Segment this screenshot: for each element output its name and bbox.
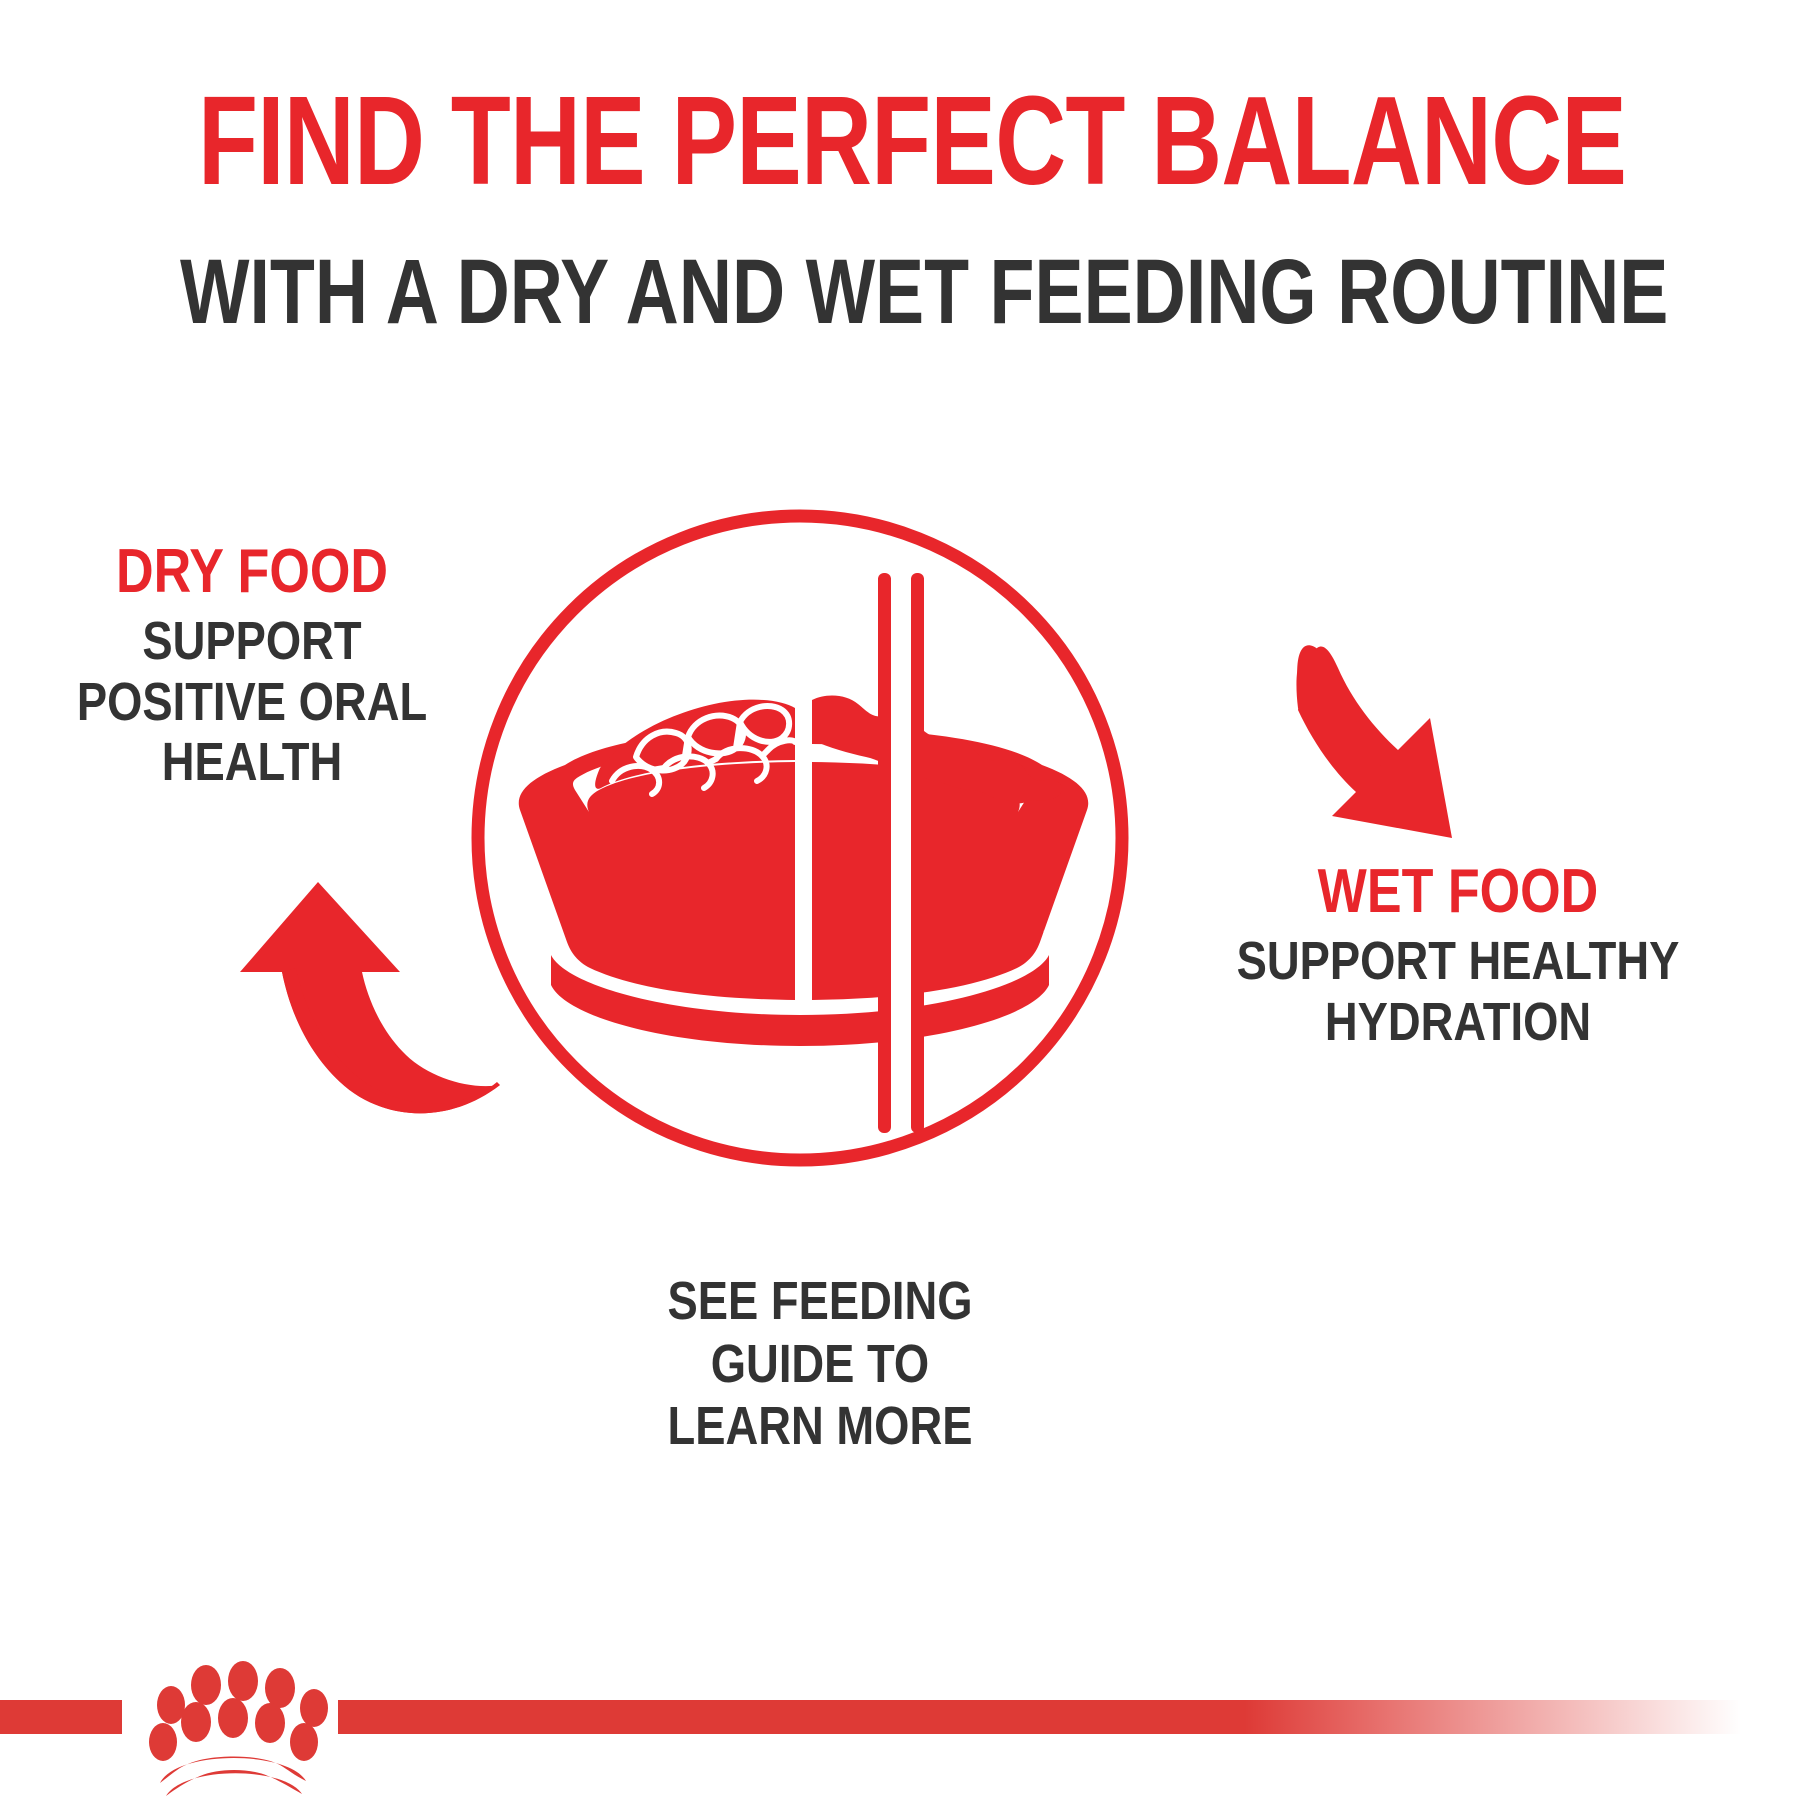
dry-food-desc-line-2: POSITIVE ORAL (76, 672, 429, 732)
dry-kibble-icon (595, 700, 795, 794)
brand-rule-bar-right (338, 1700, 1800, 1734)
cta-line-2: GUIDE TO (551, 1333, 1089, 1396)
brand-rule-bar-left (0, 1700, 122, 1734)
cta-line-1: SEE FEEDING (551, 1270, 1089, 1333)
page-subheadline: WITH A DRY AND WET FEEDING ROUTINE (180, 246, 1620, 338)
cta-line-3: LEARN MORE (551, 1395, 1089, 1458)
wet-food-panel: WET FOOD SUPPORT HEALTHY HYDRATION (1128, 860, 1788, 1052)
poster-canvas: FIND THE PERFECT BALANCE WITH A DRY AND … (0, 0, 1800, 1800)
wet-food-icon (812, 695, 1062, 803)
vertical-split-line-icon (878, 573, 924, 1133)
curved-arrow-down-right-icon (1296, 645, 1452, 838)
dry-food-desc-line-1: SUPPORT (76, 611, 429, 671)
wet-food-desc-line-2: HYDRATION (1181, 992, 1735, 1052)
dry-food-description: SUPPORT POSITIVE ORAL HEALTH (76, 611, 429, 792)
circle-outline-icon (478, 516, 1122, 1160)
dry-food-title: DRY FOOD (76, 540, 429, 603)
page-headline: FIND THE PERFECT BALANCE (198, 78, 1602, 204)
wet-food-description: SUPPORT HEALTHY HYDRATION (1181, 931, 1735, 1052)
feeding-guide-cta: SEE FEEDING GUIDE TO LEARN MORE (551, 1270, 1089, 1458)
pet-food-bowl-icon (519, 573, 1088, 1133)
wet-food-title: WET FOOD (1181, 860, 1735, 923)
wet-food-desc-line-1: SUPPORT HEALTHY (1181, 931, 1735, 991)
curved-arrow-up-left-icon (240, 882, 500, 1113)
royal-canin-paw-crown-logo (118, 1650, 343, 1800)
dry-food-desc-line-3: HEALTH (76, 732, 429, 792)
dry-food-panel: DRY FOOD SUPPORT POSITIVE ORAL HEALTH (42, 540, 462, 793)
